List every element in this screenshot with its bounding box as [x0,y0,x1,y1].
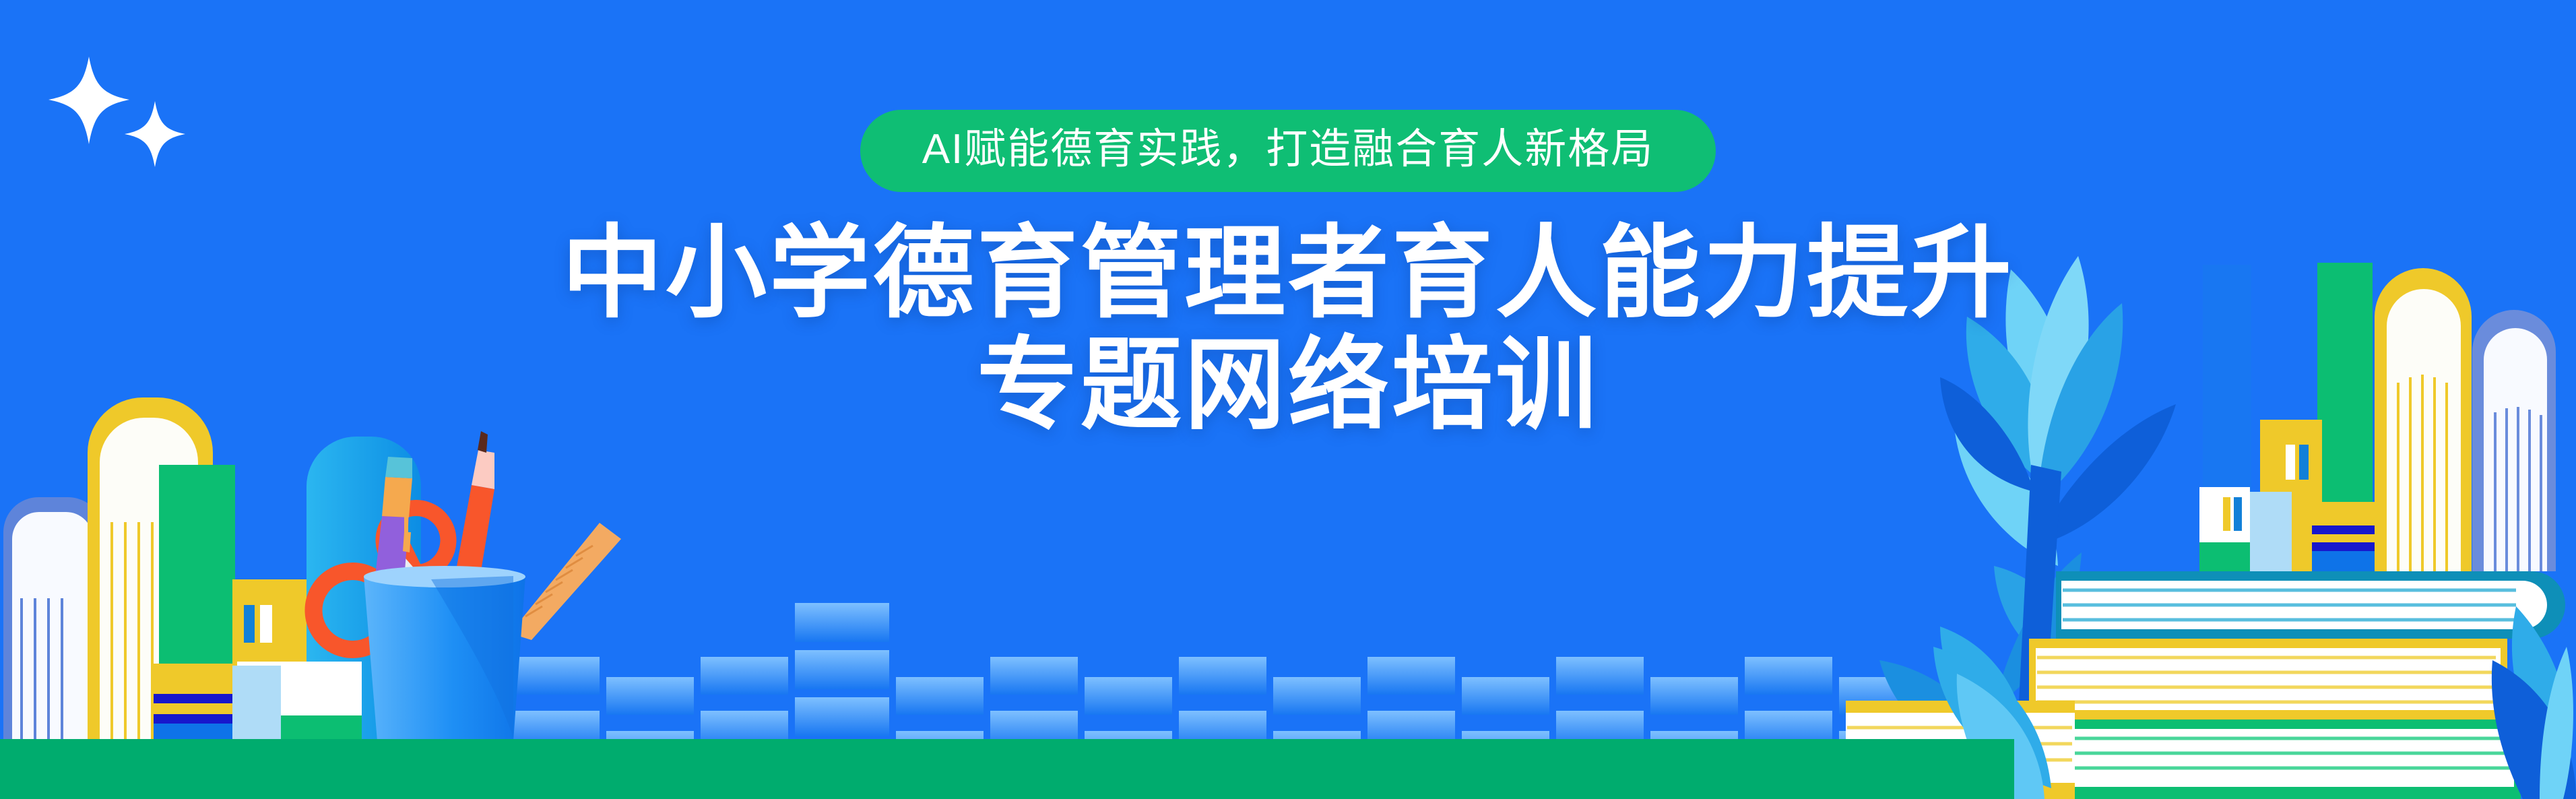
sparkle-large-icon [49,57,129,144]
sparkle-group [47,53,209,174]
subtitle-badge[interactable]: AI赋能德育实践，打造融合育人新格局 [860,110,1716,192]
sparkle-small-icon [125,101,185,167]
training-banner: AI赋能德育实践，打造融合育人新格局 中小学德育管理者育人能力提升 专题网络培训 [0,0,2576,799]
